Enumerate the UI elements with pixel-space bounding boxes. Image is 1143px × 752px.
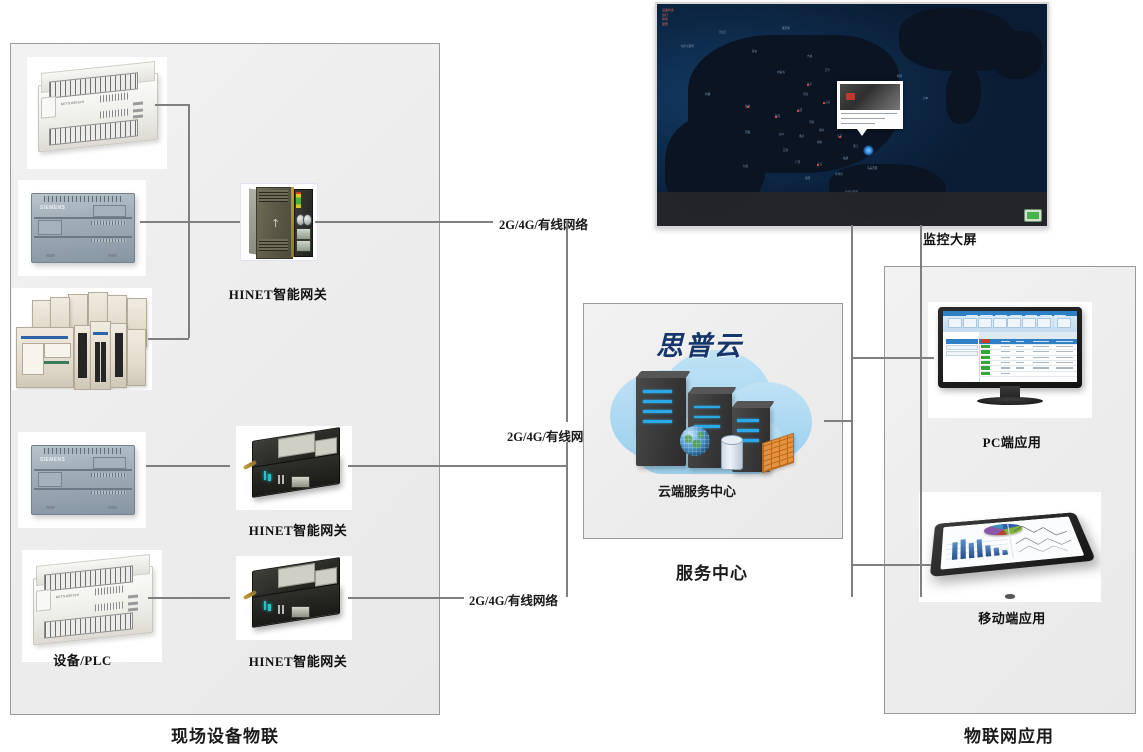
plc-chassis: SIEMENS (31, 445, 135, 514)
map-label: 哈萨克斯坦 (681, 44, 694, 48)
plc-terminal-dots-2 (91, 491, 126, 494)
globe-icon (680, 426, 710, 456)
bar-6 (993, 548, 999, 556)
table-cell (1001, 357, 1011, 358)
table-cell (1033, 346, 1049, 347)
map-marker (747, 106, 749, 108)
table-cell (1001, 367, 1011, 368)
map-label: 吉林 (807, 54, 812, 58)
table-cell (1056, 357, 1074, 358)
cloud-brand-logo: 思普云 (656, 324, 743, 363)
router-switch-1 (278, 605, 280, 614)
label-gateway-2: HINET智能网关 (216, 520, 380, 539)
plc-brand-label: SIEMENS (40, 457, 65, 463)
router-led-power (264, 471, 267, 480)
gateway-vent-bottom (259, 239, 288, 251)
toolbar-button-6 (1022, 318, 1036, 328)
rack-module-f1 (74, 325, 91, 390)
table-cell (1001, 341, 1011, 342)
label-pc-application: PC端应用 (938, 432, 1086, 451)
diagram-canvas: MITSUBISHI SIEMENS (0, 0, 1143, 752)
caption-zone-field: 现场设备物联 (110, 722, 340, 747)
table-cell (1056, 362, 1074, 363)
map-label: 河南 (809, 120, 814, 124)
caption-zone-apps: 物联网应用 (884, 722, 1134, 747)
tablet-body (929, 513, 1095, 578)
wire-trunk-to-tablet (851, 564, 931, 566)
plc-vent-grille (44, 196, 122, 201)
cpu-green-band (44, 361, 69, 364)
map-label: 印度 (743, 164, 748, 168)
server-led-row-2 (737, 429, 759, 432)
tree-item-2 (946, 345, 978, 350)
tray-status-icon (1024, 209, 1042, 222)
table-cell (1016, 357, 1024, 358)
tablet-screen (940, 517, 1083, 570)
wire-link1-down (566, 221, 568, 422)
database-icon (721, 438, 743, 470)
module-band (93, 332, 108, 335)
device-mitsubishi-compact-plc-2: MITSUBISHI (22, 550, 162, 662)
label-device-plc: 设备/PLC (10, 650, 155, 669)
popup-text-line-1 (841, 113, 897, 114)
table-cell (1056, 341, 1074, 342)
monitor-screen (943, 311, 1077, 382)
tablet-device (919, 492, 1101, 602)
plc-brand-label: SIEMENS (40, 205, 65, 211)
map-label: 福建 (843, 156, 848, 160)
map-marker (817, 164, 819, 166)
cpu-blue-band (21, 336, 68, 339)
map-label: 辽宁 (825, 68, 830, 72)
popup-text-line-2 (841, 118, 885, 119)
line-chart (1010, 519, 1078, 558)
wire-bus-to-gateway1 (188, 221, 241, 223)
status-indicator (981, 350, 990, 353)
wire-cloud-to-trunk (824, 420, 852, 422)
app-ribbon-toolbar (943, 311, 1077, 333)
rack-module-f2 (90, 321, 110, 390)
wire-right-trunk (851, 225, 853, 597)
server-led-row-2 (694, 416, 720, 419)
plc-terminal-dots-1 (91, 221, 126, 224)
map-label: 湖南 (817, 140, 822, 144)
plc-io-panel-left (38, 472, 63, 487)
table-cell (1056, 346, 1074, 347)
toolbar-button-5 (1007, 318, 1021, 328)
router-switch-2 (282, 475, 284, 484)
map-label: 西藏 (745, 130, 750, 134)
module-slot-a (95, 342, 100, 382)
plc-foot-right (108, 506, 117, 509)
toolbar-button-1 (948, 318, 962, 328)
plc-chassis: SIEMENS (31, 193, 135, 262)
wire-plc3-stub (148, 338, 189, 340)
gateway-ethernet-port-2 (296, 240, 311, 252)
wire-plc4-to-gateway2 (146, 465, 230, 467)
server-rack-1 (636, 376, 686, 466)
router-led-power (264, 601, 267, 610)
wire-gateway2-uplink (348, 465, 566, 467)
caption-zone-service: 服务中心 (584, 559, 840, 584)
router-switch-1 (278, 475, 280, 484)
bar-1 (951, 543, 957, 561)
map-label: 云南 (783, 148, 788, 152)
map-marker (807, 84, 809, 86)
plc-foot-left (46, 506, 55, 509)
label-gateway-3: HINET智能网关 (216, 651, 380, 670)
wire-plc2-stub (140, 221, 189, 223)
server-led-row-3 (643, 410, 672, 413)
map-label: 新疆 (705, 92, 710, 96)
map-marker (823, 102, 825, 104)
bar-7 (1002, 550, 1008, 555)
map-label: 蒙古 (752, 49, 757, 53)
map-label: 广西 (795, 160, 800, 164)
label-network-link-1: 2G/4G/有线网络 (496, 214, 591, 233)
table-cell (1033, 362, 1049, 363)
map-marker (775, 116, 777, 118)
map-label: 河北 (803, 92, 808, 96)
device-thumbnail (840, 84, 900, 110)
label-gateway-1: HINET智能网关 (216, 284, 340, 303)
popup-text-line-3 (841, 123, 875, 124)
server-top (636, 371, 691, 378)
plc-divider-1 (34, 469, 132, 471)
rack-module-f4 (127, 329, 146, 386)
rack-module-f3 (110, 323, 127, 388)
map-label: 日本 (923, 96, 928, 100)
device-mitsubishi-compact-plc: MITSUBISHI (27, 57, 167, 169)
table-cell (1033, 357, 1049, 358)
module-slot (78, 333, 87, 377)
table-cell (1001, 373, 1011, 374)
device-siemens-s7-plc-2: SIEMENS (18, 432, 146, 528)
table-cell (1016, 351, 1024, 352)
landmass-japan (946, 66, 981, 124)
table-cell (1001, 351, 1011, 352)
label-big-screen: 监控大屏 (860, 229, 1040, 248)
rack-cpu-main (16, 327, 74, 388)
plc-divider-1 (34, 217, 132, 219)
module-slot-b (101, 342, 106, 382)
map-label: 韩国 (897, 74, 902, 78)
wire-gateway1-uplink (315, 221, 493, 223)
toolbar-button-7 (1037, 318, 1051, 328)
device-info-popup (837, 81, 903, 129)
table-cell (1033, 351, 1049, 352)
plc-foot-right (108, 254, 117, 257)
status-indicator (981, 366, 990, 369)
plc-io-panel-left (38, 220, 63, 235)
wire-bus-upper (188, 104, 190, 221)
map-label: 重庆 (799, 134, 804, 138)
toolbar-button-3 (978, 318, 992, 328)
map-marker (797, 110, 799, 112)
plc-foot-left (46, 254, 55, 257)
gateway-antenna-connector-2 (303, 214, 312, 225)
bar-3 (968, 543, 974, 558)
plc-terminal-dots-2 (91, 239, 126, 242)
cpu-display (44, 343, 71, 358)
server-led-row-1 (694, 406, 720, 409)
screen-taskbar (657, 192, 1047, 226)
gateway-status-leds (296, 192, 301, 209)
gateway-industrial-router-1 (236, 426, 352, 510)
wire-apps-riser (920, 225, 922, 597)
table-cell (1033, 367, 1049, 368)
router-ethernet-port (291, 476, 310, 487)
plc-divider-2 (34, 488, 132, 490)
toolbar-button-8 (1057, 318, 1071, 328)
plc-io-panel-right (93, 457, 126, 468)
map-label: 浙江 (853, 144, 858, 148)
server-top (732, 401, 775, 408)
router-ethernet-port (291, 606, 310, 617)
bar-2 (960, 539, 966, 559)
monitor-bezel (938, 307, 1082, 388)
plc-vent-grille (44, 448, 122, 453)
router-led-signal (268, 474, 271, 481)
app-device-tree (943, 332, 980, 382)
map-label: 马来西亚 (867, 166, 877, 170)
landmass-kamchatka (992, 31, 1043, 80)
map-label: 泰国 (805, 176, 810, 180)
wire-bus-lower (188, 221, 190, 338)
table-cell (1056, 351, 1074, 352)
map-legend: 设备状态 运行 停机 报警 (662, 8, 674, 26)
map-label: 山东 (825, 100, 830, 104)
status-indicator (981, 361, 990, 364)
popup-pointer (857, 129, 867, 136)
module-slot (115, 333, 123, 377)
map-label: 黑龙江 (719, 30, 727, 34)
plc-access-cover (41, 97, 56, 120)
gateway-din-rail-device: ↑ (240, 183, 318, 261)
legend-title: 设备状态 (662, 8, 674, 13)
map-label: 内蒙古 (777, 70, 785, 74)
cpu-door (22, 343, 44, 375)
table-row (979, 371, 1077, 377)
map-marker (839, 136, 841, 138)
wire-plc5-to-gateway3 (148, 597, 230, 599)
plc-io-panel-right (93, 205, 126, 216)
plc-access-cover (36, 590, 51, 613)
tree-item-selected (946, 339, 978, 344)
table-cell (1033, 341, 1049, 342)
gateway-industrial-router-2 (236, 556, 352, 640)
server-led-row-1 (643, 390, 672, 393)
device-siemens-s7-plc: SIEMENS (18, 180, 146, 276)
gateway-logo-mark: ↑ (271, 217, 280, 231)
plc-status-led-2 (128, 601, 138, 605)
plc-divider-2 (34, 236, 132, 238)
status-indicator (981, 372, 990, 375)
router-led-signal (268, 604, 271, 611)
server-led-row-1 (737, 419, 759, 422)
cloud-service-illustration: 思普云 云端服务中心 (600, 318, 824, 518)
table-cell (1001, 346, 1011, 347)
table-cell (1056, 367, 1074, 368)
label-mobile-application: 移动端应用 (930, 608, 1094, 627)
table-cell (1016, 341, 1024, 342)
monitor-stand-base (977, 397, 1043, 405)
server-led-row-2 (643, 400, 672, 403)
status-indicator (981, 356, 990, 359)
table-cell (1016, 362, 1024, 363)
bar-5 (985, 545, 992, 557)
router-switch-2 (282, 605, 284, 614)
caption-cloud-service-center: 云端服务中心 (658, 481, 736, 500)
map-active-marker (863, 145, 874, 156)
gateway-ethernet-port-1 (296, 228, 311, 240)
plc-status-led-2 (133, 108, 143, 112)
map-label: 菲律宾 (835, 172, 843, 176)
wire-plc1-stub (155, 104, 189, 106)
wire-link3-riser (566, 442, 568, 597)
tree-item-3 (946, 351, 978, 356)
bar-4 (976, 540, 983, 558)
table-cell (1016, 367, 1024, 368)
gateway-vent-top (259, 190, 288, 202)
legend-item-alarm: 报警 (662, 22, 674, 27)
toolbar-button-4 (993, 318, 1007, 328)
tablet-home-button (1005, 594, 1016, 598)
toolbar-button-2 (963, 318, 977, 328)
server-led-row-4 (643, 420, 672, 423)
status-indicator (981, 339, 990, 342)
map-label: 俄罗斯 (782, 26, 790, 30)
label-network-link-3: 2G/4G/有线网络 (466, 590, 561, 609)
table-cell (1016, 346, 1024, 347)
map-label: 四川 (779, 132, 784, 136)
plc-terminal-dots-1 (91, 473, 126, 476)
monitoring-big-screen: 设备状态 运行 停机 报警 黑龙江 俄罗斯 蒙古 吉林 辽宁 内蒙古 北京 河北… (655, 2, 1049, 228)
pc-monitor-device (928, 302, 1092, 418)
wire-gateway3-uplink (348, 597, 464, 599)
server-top (688, 387, 737, 394)
status-indicator (981, 345, 990, 348)
device-modular-rack-plc (12, 288, 152, 390)
map-label: 湖北 (819, 128, 824, 132)
table-cell (1001, 362, 1011, 363)
